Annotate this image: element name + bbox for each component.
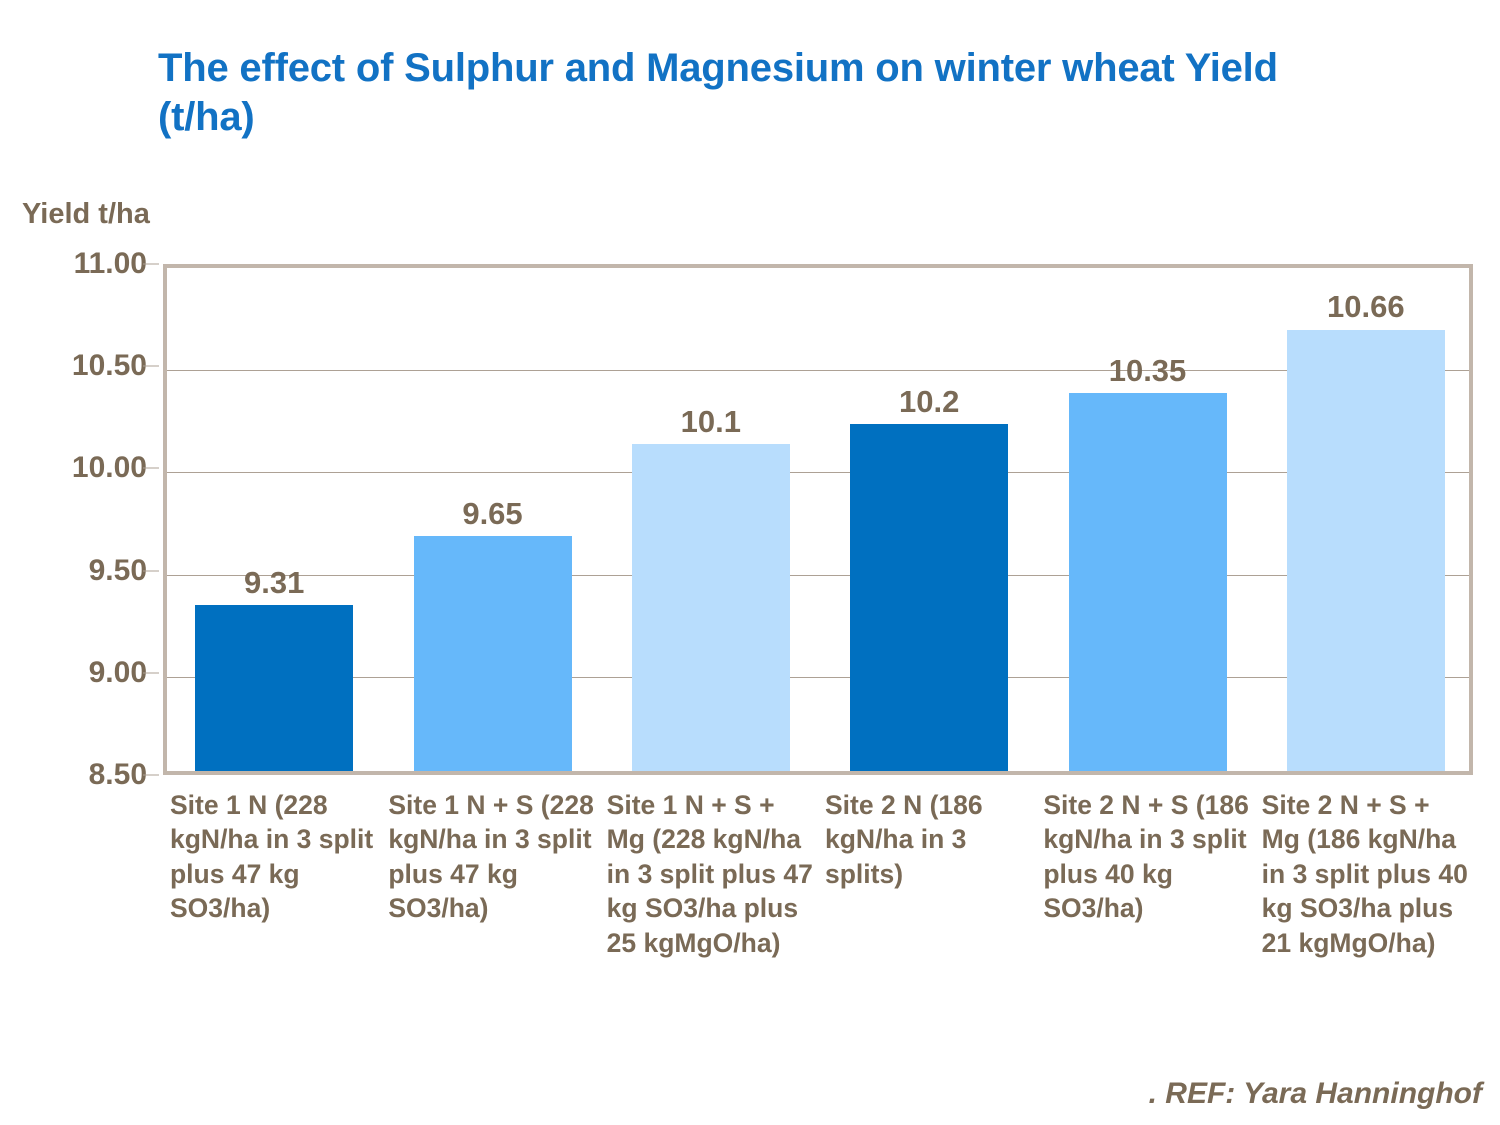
x-axis-category-label: Site 2 N (186 kgN/ha in 3 splits) <box>825 788 1031 891</box>
bar-value-label: 10.66 <box>1327 289 1405 325</box>
gridline <box>167 575 1469 576</box>
y-axis-tick-label: 9.00 <box>17 656 147 690</box>
x-axis-category-labels: Site 1 N (228 kgN/ha in 3 split plus 47 … <box>163 788 1473 1088</box>
y-axis-tick-label: 11.00 <box>17 247 147 281</box>
y-axis-tick-mark <box>143 672 159 673</box>
gridline <box>167 677 1469 678</box>
bar[interactable] <box>1069 393 1227 771</box>
y-axis-tick-labels: 11.0010.5010.009.509.008.50 <box>0 264 147 775</box>
y-axis-tick-mark <box>143 570 159 571</box>
bar[interactable] <box>632 444 790 771</box>
chart-title: The effect of Sulphur and Magnesium on w… <box>158 44 1338 142</box>
y-axis-tick-label: 9.50 <box>17 554 147 588</box>
bar[interactable] <box>414 536 572 771</box>
bar[interactable] <box>850 424 1008 771</box>
bar-value-label: 10.1 <box>681 404 741 440</box>
gridline <box>167 370 1469 371</box>
y-axis-tick-label: 10.00 <box>17 451 147 485</box>
y-axis-tick-mark <box>143 775 159 776</box>
bar-value-label: 10.2 <box>899 384 959 420</box>
x-axis-category-label: Site 1 N + S + Mg (228 kgN/ha in 3 split… <box>607 788 813 960</box>
x-axis-category-label: Site 2 N + S + Mg (186 kgN/ha in 3 split… <box>1262 788 1468 960</box>
x-axis-category-label: Site 1 N + S (228 kgN/ha in 3 split plus… <box>388 788 594 926</box>
reference-note: . REF: Yara Hanninghof <box>1149 1077 1482 1111</box>
bar-value-label: 9.31 <box>244 565 304 601</box>
bar-value-label: 9.65 <box>462 496 522 532</box>
x-axis-category-label: Site 2 N + S (186 kgN/ha in 3 split plus… <box>1043 788 1249 926</box>
x-axis-category-label: Site 1 N (228 kgN/ha in 3 split plus 47 … <box>170 788 376 926</box>
y-axis-tick-label: 10.50 <box>17 349 147 383</box>
y-axis-tick-mark <box>143 366 159 367</box>
plot-area: 9.319.6510.110.210.3510.66 <box>163 264 1473 775</box>
bar[interactable] <box>195 605 353 771</box>
y-axis-tick-mark <box>143 468 159 469</box>
gridline <box>167 472 1469 473</box>
y-axis-tick-label: 8.50 <box>17 758 147 792</box>
bar-value-label: 10.35 <box>1109 353 1187 389</box>
y-axis-title: Yield t/ha <box>22 198 150 231</box>
bar[interactable] <box>1287 330 1445 772</box>
y-axis-tick-mark <box>143 264 159 265</box>
